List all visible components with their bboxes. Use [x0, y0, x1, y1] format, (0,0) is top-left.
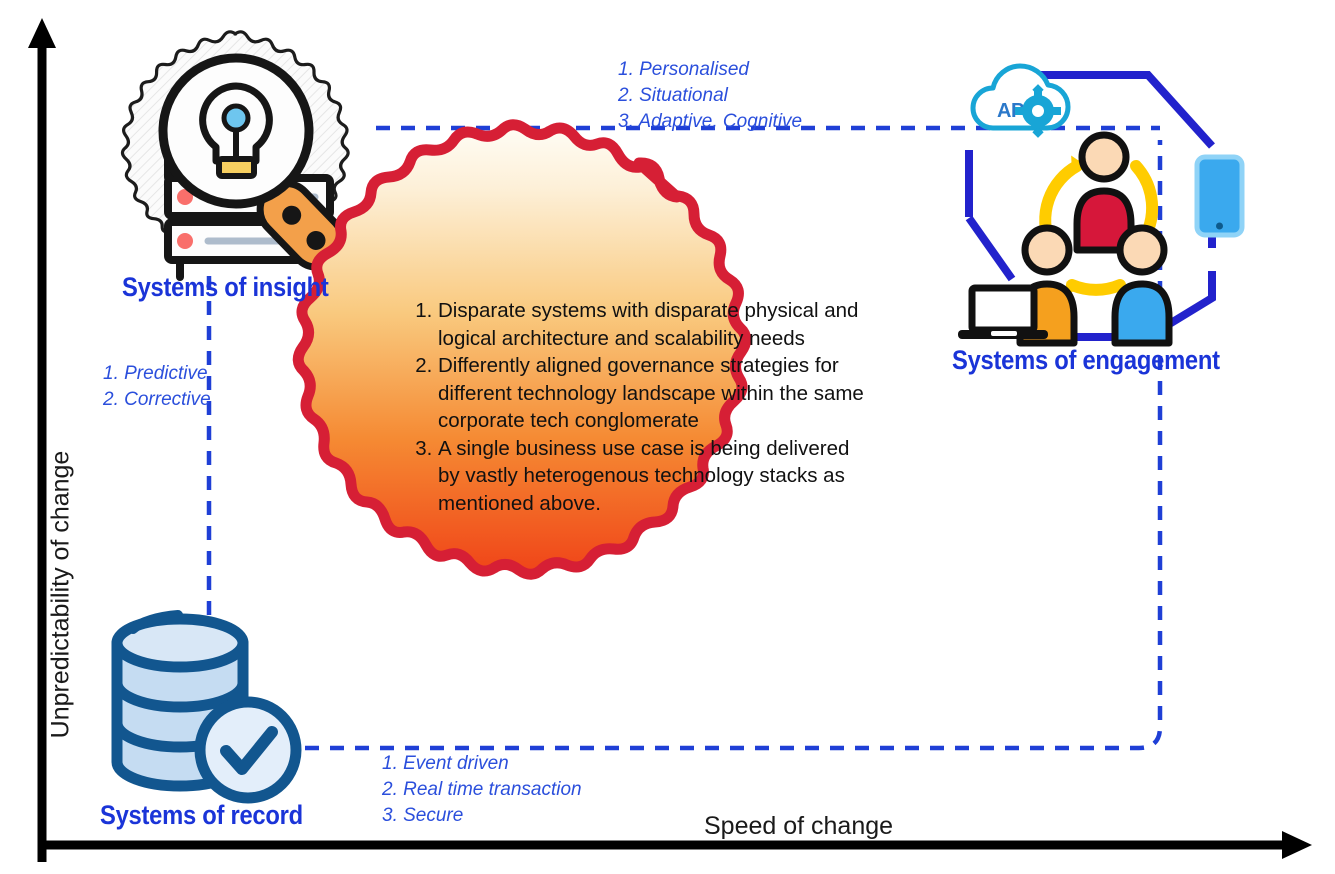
laptop-icon [958, 288, 1048, 339]
systems-of-record-icon [117, 615, 296, 798]
annotation-engagement-traits: 1. Personalised 2. Situational 3. Adapti… [618, 57, 802, 135]
annotation-line: 2. Real time transaction [382, 777, 582, 803]
systems-of-insight-icon [122, 32, 353, 278]
annotation-line: 3. Secure [382, 803, 582, 829]
axis-y-label: Unpredictability of change [46, 451, 75, 739]
burst-body-text: Disparate systems with disparate physica… [404, 297, 874, 517]
annotation-line: 3. Adaptive, Cognitive [618, 109, 802, 135]
person-top [1077, 135, 1131, 250]
axis-x [42, 831, 1312, 859]
annotation-record-traits: 1. Event driven 2. Real time transaction… [382, 751, 582, 829]
burst-item: Differently aligned governance strategie… [438, 352, 874, 435]
annotation-line: 1. Event driven [382, 751, 582, 777]
label-systems-of-record: Systems of record [100, 800, 303, 831]
burst-item: A single business use case is being deli… [438, 435, 874, 518]
label-systems-of-engagement: Systems of engagement [952, 345, 1220, 376]
axis-x-label: Speed of change [704, 812, 893, 841]
burst-item: Disparate systems with disparate physica… [438, 297, 874, 352]
diagram-canvas: API [0, 0, 1335, 874]
annotation-insight-traits: 1. Predictive 2. Corrective [103, 361, 211, 413]
annotation-line: 1. Predictive [103, 361, 211, 387]
annotation-line: 1. Personalised [618, 57, 802, 83]
annotation-line: 2. Corrective [103, 387, 211, 413]
systems-of-engagement-icon: API [958, 66, 1242, 343]
smartphone-icon [1197, 157, 1242, 235]
annotation-line: 2. Situational [618, 83, 802, 109]
label-systems-of-insight: Systems of insight [122, 272, 328, 303]
